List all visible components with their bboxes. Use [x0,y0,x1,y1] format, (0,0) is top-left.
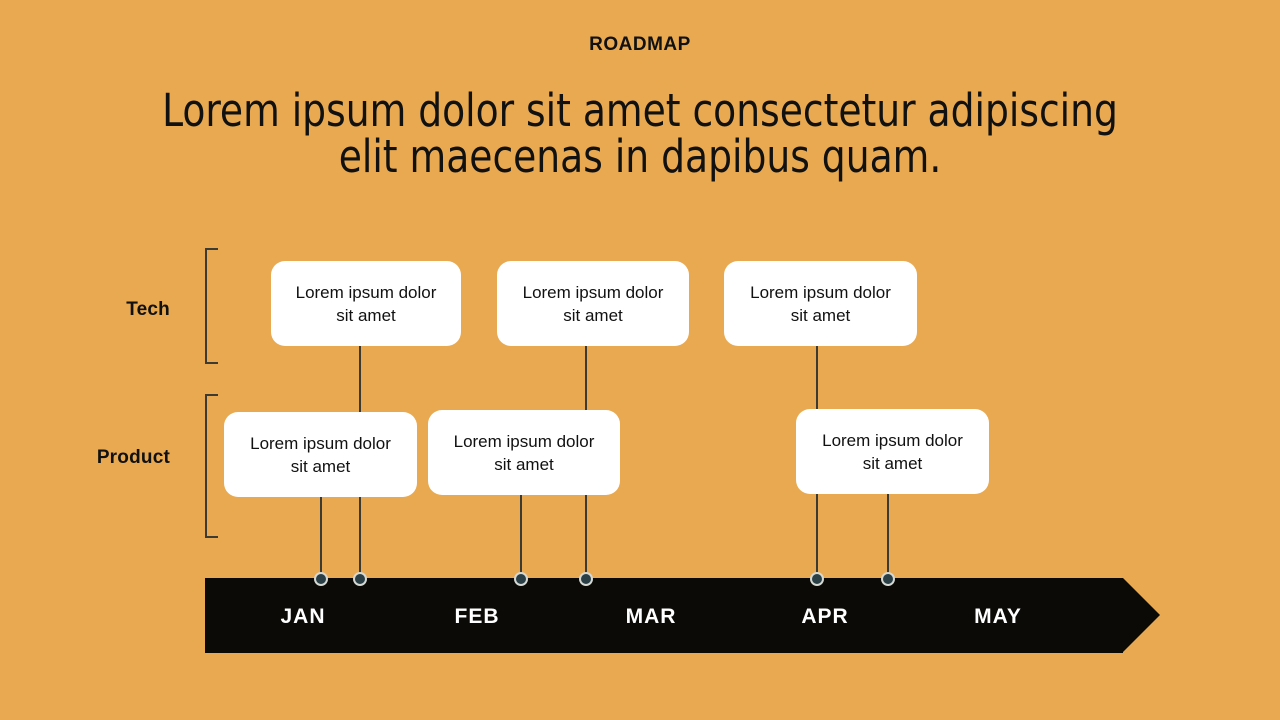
month-feb[interactable]: FEB [417,605,537,629]
month-mar[interactable]: MAR [591,605,711,629]
tech-card-3-text: Lorem ipsum dolor sit amet [740,281,901,327]
tech-card-2-text: Lorem ipsum dolor sit amet [513,281,673,327]
tech-card-1-text: Lorem ipsum dolor sit amet [287,281,445,327]
bracket-product [205,394,218,538]
connector-product-2 [520,494,522,579]
track-label-tech: Tech [40,299,170,321]
milestone-dot-4[interactable] [579,572,593,586]
month-may[interactable]: MAY [938,605,1058,629]
month-jan[interactable]: JAN [243,605,363,629]
product-card-1-text: Lorem ipsum dolor sit amet [240,432,401,478]
product-card-1[interactable]: Lorem ipsum dolor sit amet [224,412,417,497]
timeline-arrow-head [1123,578,1160,652]
connector-product-1 [320,497,322,579]
connector-product-3 [887,492,889,579]
product-card-3-text: Lorem ipsum dolor sit amet [812,429,973,475]
milestone-dot-2[interactable] [353,572,367,586]
milestone-dot-1[interactable] [314,572,328,586]
track-label-product: Product [20,447,170,469]
milestone-dot-5[interactable] [810,572,824,586]
eyebrow-label: ROADMAP [0,33,1280,57]
milestone-dot-3[interactable] [514,572,528,586]
product-card-3[interactable]: Lorem ipsum dolor sit amet [796,409,989,494]
tech-card-3[interactable]: Lorem ipsum dolor sit amet [724,261,917,346]
roadmap-slide: ROADMAP Lorem ipsum dolor sit amet conse… [0,0,1280,720]
page-title: Lorem ipsum dolor sit amet consectetur a… [129,88,1152,180]
tech-card-2[interactable]: Lorem ipsum dolor sit amet [497,261,689,346]
product-card-2-text: Lorem ipsum dolor sit amet [444,430,604,476]
product-card-2[interactable]: Lorem ipsum dolor sit amet [428,410,620,495]
tech-card-1[interactable]: Lorem ipsum dolor sit amet [271,261,461,346]
timeline-bar: JAN FEB MAR APR MAY [205,578,1160,653]
milestone-dot-6[interactable] [881,572,895,586]
bracket-tech [205,248,218,364]
month-apr[interactable]: APR [765,605,885,629]
